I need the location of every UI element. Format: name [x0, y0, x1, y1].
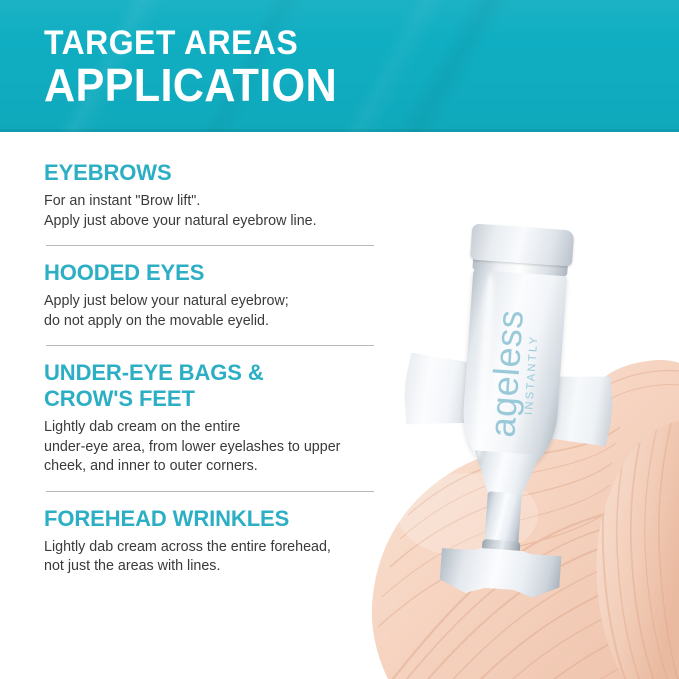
tube-label: INSTANTLY ageless: [464, 286, 562, 462]
page-title-line1: TARGET AREAS: [44, 24, 337, 62]
section-hooded-eyes: HOODED EYES Apply just below your natura…: [44, 260, 389, 331]
section-body: Apply just below your natural eyebrow; d…: [44, 292, 389, 331]
section-divider: [46, 491, 374, 492]
section-heading: FOREHEAD WRINKLES: [44, 506, 389, 532]
tube-neck: [484, 491, 522, 545]
brand-instantly-text: INSTANTLY: [524, 335, 541, 416]
tube-nozzle-ring: [482, 539, 521, 556]
product-illustration: INSTANTLY ageless: [348, 215, 679, 679]
target-areas-list: EYEBROWS For an instant "Brow lift". App…: [44, 160, 389, 577]
tube-wing-left: [402, 352, 471, 428]
tube-cap: [470, 224, 574, 267]
tube-body: [460, 268, 568, 474]
tube-taper: [472, 450, 541, 498]
section-body: Lightly dab cream across the entire fore…: [44, 538, 389, 577]
section-divider: [46, 245, 374, 246]
page-header: TARGET AREAS APPLICATION: [0, 0, 679, 132]
section-heading: EYEBROWS: [44, 160, 389, 186]
section-divider: [46, 345, 374, 346]
section-eyebrows: EYEBROWS For an instant "Brow lift". App…: [44, 160, 389, 231]
tube-collar: [472, 257, 568, 277]
section-heading: UNDER-EYE BAGS & CROW'S FEET: [44, 360, 389, 412]
header-bottom-rule: [0, 129, 679, 132]
product-tube: INSTANTLY ageless: [426, 222, 600, 587]
section-under-eye-bags-crows-feet: UNDER-EYE BAGS & CROW'S FEET Lightly dab…: [44, 360, 389, 477]
tube-wing-right: [547, 372, 614, 446]
section-body: For an instant "Brow lift". Apply just a…: [44, 192, 389, 231]
page-title: TARGET AREAS APPLICATION: [44, 24, 356, 110]
brand-ageless-text: ageless: [484, 308, 529, 438]
section-body: Lightly dab cream on the entire under-ey…: [44, 418, 389, 477]
cream-swirl-graphic: [348, 215, 679, 679]
tube-highlight: [470, 274, 499, 460]
section-forehead-wrinkles: FOREHEAD WRINKLES Lightly dab cream acro…: [44, 506, 389, 577]
page-title-line2: APPLICATION: [44, 60, 337, 110]
section-heading: HOODED EYES: [44, 260, 389, 286]
tube-base-wing: [439, 545, 562, 599]
